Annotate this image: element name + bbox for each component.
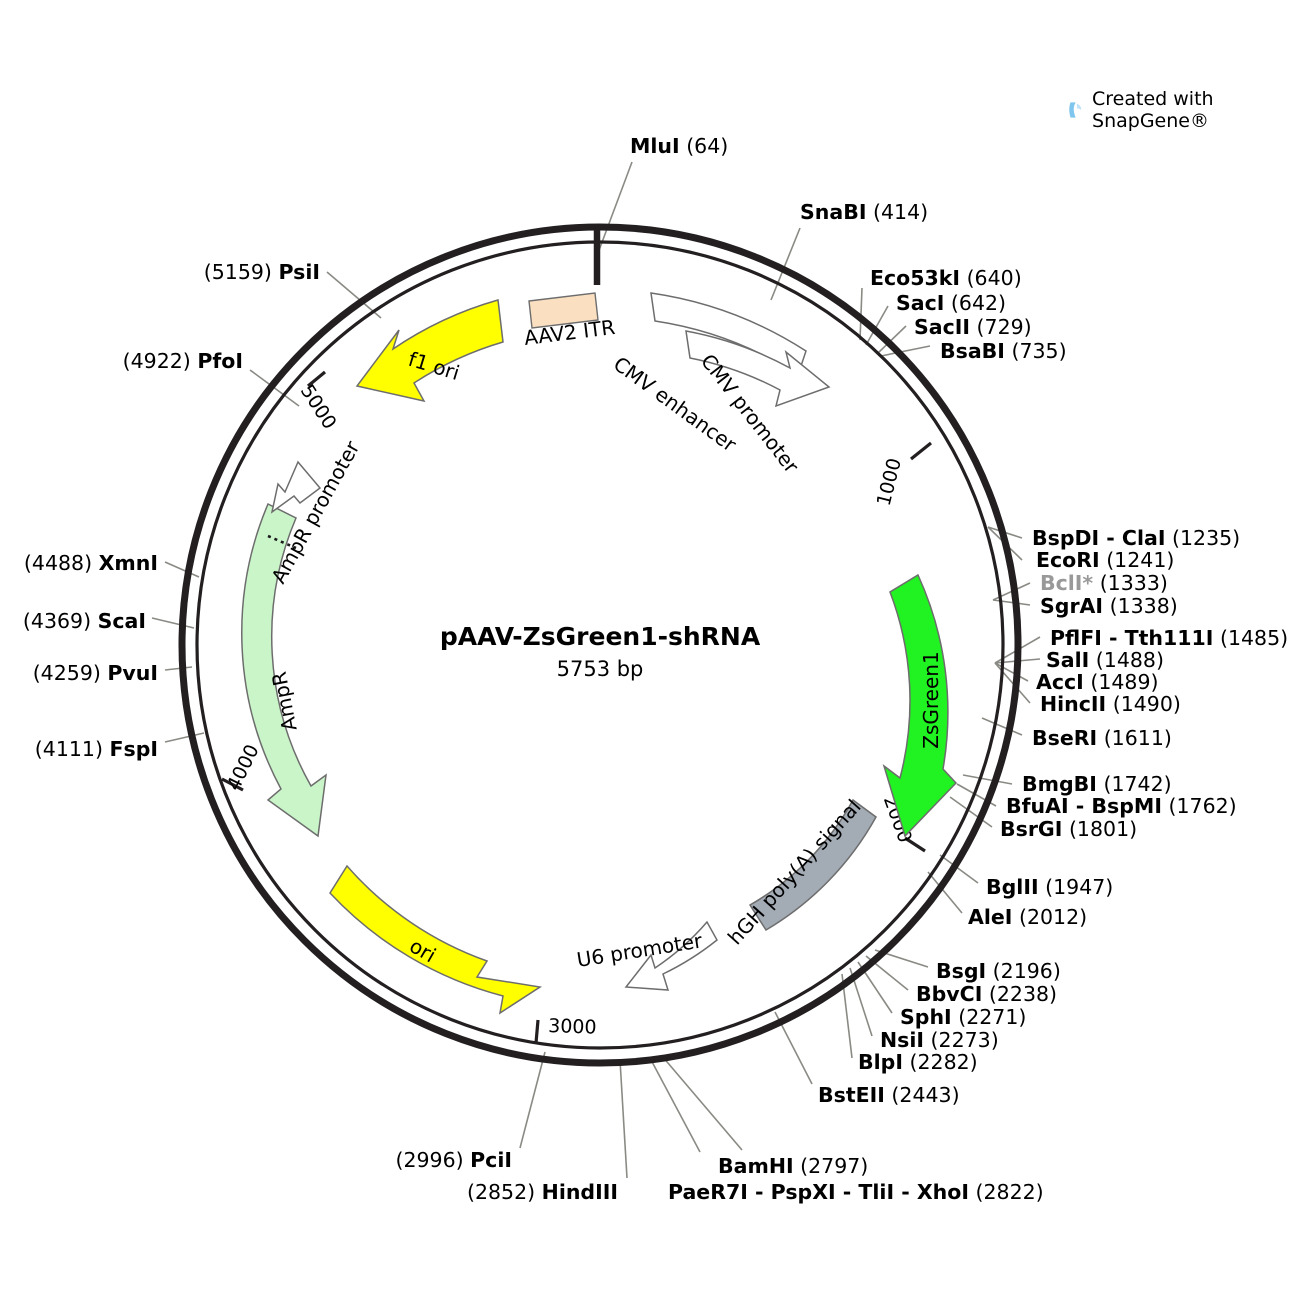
enzyme-label-bsabi[interactable]: BsaBI (735) (940, 339, 1067, 363)
enzyme-label-scai[interactable]: (4369) ScaI (23, 609, 146, 633)
enzyme-labels-top: MluI (64) SnaBI (414) (630, 134, 928, 224)
enzyme-label-bamhi[interactable]: BamHI (2797) (718, 1154, 868, 1178)
enzyme-labels-bottom-left: (2996) PciI (2852) HindIII (395, 1148, 618, 1204)
enzyme-labels-upper-left: (4922) PfoI (5159) PsiI (123, 260, 320, 373)
features-layer (242, 293, 956, 1013)
enzyme-label-hincii[interactable]: HincII (1490) (1040, 692, 1181, 716)
plasmid-diagram: 1000 2000 3000 4000 5000 (0, 0, 1300, 1300)
tick-label-5000: 5000 (296, 381, 341, 434)
enzyme-label-sgrai[interactable]: SgrAI (1338) (1040, 594, 1178, 618)
enzyme-label-acci[interactable]: AccI (1489) (1036, 670, 1159, 694)
enzyme-label-xmni[interactable]: (4488) XmnI (24, 551, 158, 575)
enzyme-label-sacii[interactable]: SacII (729) (914, 315, 1032, 339)
enzyme-label-pcii[interactable]: (2996) PciI (395, 1148, 512, 1172)
enzyme-label-nsii[interactable]: NsiI (2273) (880, 1028, 999, 1052)
plasmid-map-canvas: Created with SnapGene® (0, 0, 1300, 1300)
snapgene-logo-icon (1068, 99, 1085, 121)
plasmid-title-block: pAAV-ZsGreen1-shRNA 5753 bp (440, 622, 761, 681)
enzyme-label-bcli[interactable]: BclI* (1333) (1040, 571, 1168, 595)
enzyme-label-bseri[interactable]: BseRI (1611) (1032, 726, 1172, 750)
enzyme-label-pflfi-tth111i[interactable]: PflFI - Tth111I (1485) (1050, 626, 1288, 650)
enzyme-label-bglii[interactable]: BglII (1947) (986, 875, 1113, 899)
enzyme-label-bsgi[interactable]: BsgI (2196) (936, 959, 1061, 983)
feature-label-zsgreen1: ZsGreen1 (919, 651, 943, 748)
enzyme-label-bbvci[interactable]: BbvCI (2238) (916, 982, 1057, 1006)
enzyme-label-bsteii[interactable]: BstEII (2443) (818, 1083, 960, 1107)
enzyme-label-hindiii[interactable]: (2852) HindIII (467, 1180, 618, 1204)
enzyme-label-snabi[interactable]: SnaBI (414) (800, 200, 928, 224)
enzyme-label-paer7i-pspxi-tlii-xhoi[interactable]: PaeR7I - PspXI - TliI - XhoI (2822) (668, 1180, 1044, 1204)
watermark-registered: ® (1190, 110, 1209, 132)
snapgene-watermark: Created with SnapGene® (1068, 88, 1300, 132)
enzyme-label-bspdi-clai[interactable]: BspDI - ClaI (1235) (1032, 526, 1240, 550)
enzyme-label-bfuai-bspmi[interactable]: BfuAI - BspMI (1762) (1006, 794, 1237, 818)
enzyme-label-eco53ki[interactable]: Eco53kI (640) (870, 266, 1022, 290)
enzyme-label-ecori[interactable]: EcoRI (1241) (1036, 548, 1174, 572)
enzyme-label-bmgbi[interactable]: BmgBI (1742) (1022, 772, 1172, 796)
plasmid-length: 5753 bp (557, 657, 644, 681)
enzyme-label-saci[interactable]: SacI (642) (896, 291, 1006, 315)
feature-label-hgh-polya-signal: hGH poly(A) signal (723, 795, 866, 950)
plasmid-name: pAAV-ZsGreen1-shRNA (440, 622, 761, 651)
enzyme-label-bsrgi[interactable]: BsrGI (1801) (1000, 817, 1137, 841)
enzyme-label-pvui[interactable]: (4259) PvuI (33, 661, 158, 685)
watermark-prefix: Created with (1092, 88, 1214, 110)
enzyme-labels-bottom: BamHI (2797) PaeR7I - PspXI - TliI - Xho… (668, 1154, 1044, 1204)
enzyme-label-psii[interactable]: (5159) PsiI (204, 260, 320, 284)
enzyme-label-sphi[interactable]: SphI (2271) (900, 1005, 1026, 1029)
watermark-brand-snap: Snap (1092, 110, 1140, 132)
enzyme-labels-left: (4111) FspI (4259) PvuI (4369) ScaI (448… (23, 551, 158, 761)
tick-label-3000: 3000 (548, 1015, 597, 1039)
enzyme-label-fspi[interactable]: (4111) FspI (35, 737, 158, 761)
tick-3000 (536, 1020, 538, 1043)
tick-label-4000: 4000 (223, 741, 264, 794)
enzyme-label-pfoi[interactable]: (4922) PfoI (123, 349, 243, 373)
watermark-text: Created with SnapGene® (1092, 88, 1300, 132)
watermark-brand-gene: Gene (1140, 110, 1190, 132)
feature-label-u6-promoter: U6 promoter (575, 928, 704, 972)
feature-f1-ori[interactable] (357, 300, 503, 401)
enzyme-label-mlui[interactable]: MluI (64) (630, 134, 728, 158)
enzyme-label-alei[interactable]: AleI (2012) (968, 905, 1087, 929)
tick-label-1000: 1000 (873, 456, 906, 508)
tick-1000 (911, 443, 931, 459)
enzyme-label-blpi[interactable]: BlpI (2282) (858, 1050, 978, 1074)
enzyme-label-sali[interactable]: SalI (1488) (1046, 648, 1164, 672)
